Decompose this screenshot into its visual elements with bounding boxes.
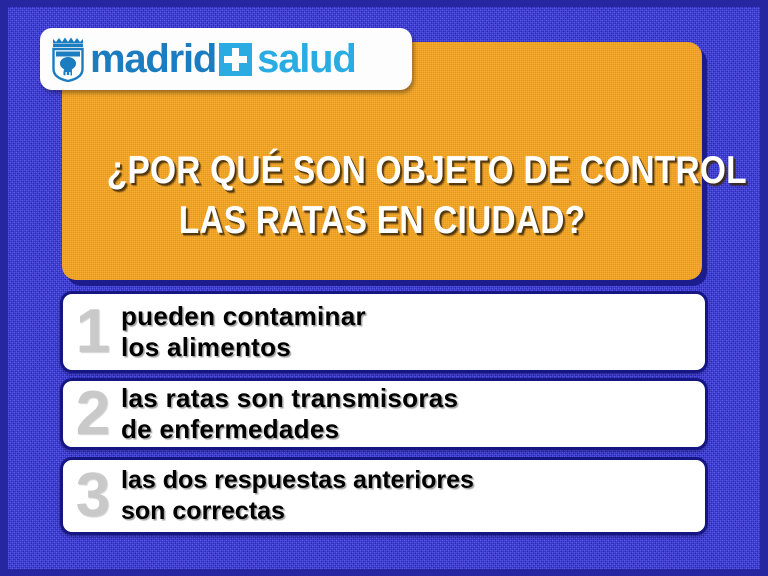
answer-option-1[interactable]: 1 pueden contaminar los alimentos [60,291,708,373]
answer-1-line-2: los alimentos [121,332,705,363]
madrid-coat-of-arms-icon [50,36,86,82]
question-title: ¿POR QUÉ SON OBJETO DE CONTROL LAS RATAS… [107,146,657,246]
quiz-slide: ¿POR QUÉ SON OBJETO DE CONTROL LAS RATAS… [0,0,768,576]
question-line-2: LAS RATAS EN CIUDAD? [107,196,657,246]
answer-number-1: 1 [67,303,119,361]
question-line-1: ¿POR QUÉ SON OBJETO DE CONTROL [107,146,657,196]
logo-text-salud: salud [257,39,355,79]
health-cross-icon [219,43,252,76]
madrid-salud-logo: madrid salud [40,28,412,90]
answer-text-2: las ratas son transmisoras de enfermedad… [119,383,705,445]
answer-number-3: 3 [67,467,119,525]
answer-3-line-1: las dos respuestas anteriores [121,465,705,496]
answer-number-2: 2 [67,385,119,443]
answer-3-line-2: son correctas [121,496,705,527]
logo-wordmark: madrid salud [90,39,356,79]
answer-2-line-2: de enfermedades [121,414,705,445]
answer-1-line-1: pueden contaminar [121,301,705,332]
answer-text-3: las dos respuestas anteriores son correc… [119,465,705,527]
answer-option-3[interactable]: 3 las dos respuestas anteriores son corr… [60,457,708,535]
logo-text-madrid: madrid [90,39,216,79]
answer-2-line-1: las ratas son transmisoras [121,383,705,414]
answer-option-2[interactable]: 2 las ratas son transmisoras de enfermed… [60,378,708,450]
answer-text-1: pueden contaminar los alimentos [119,301,705,363]
